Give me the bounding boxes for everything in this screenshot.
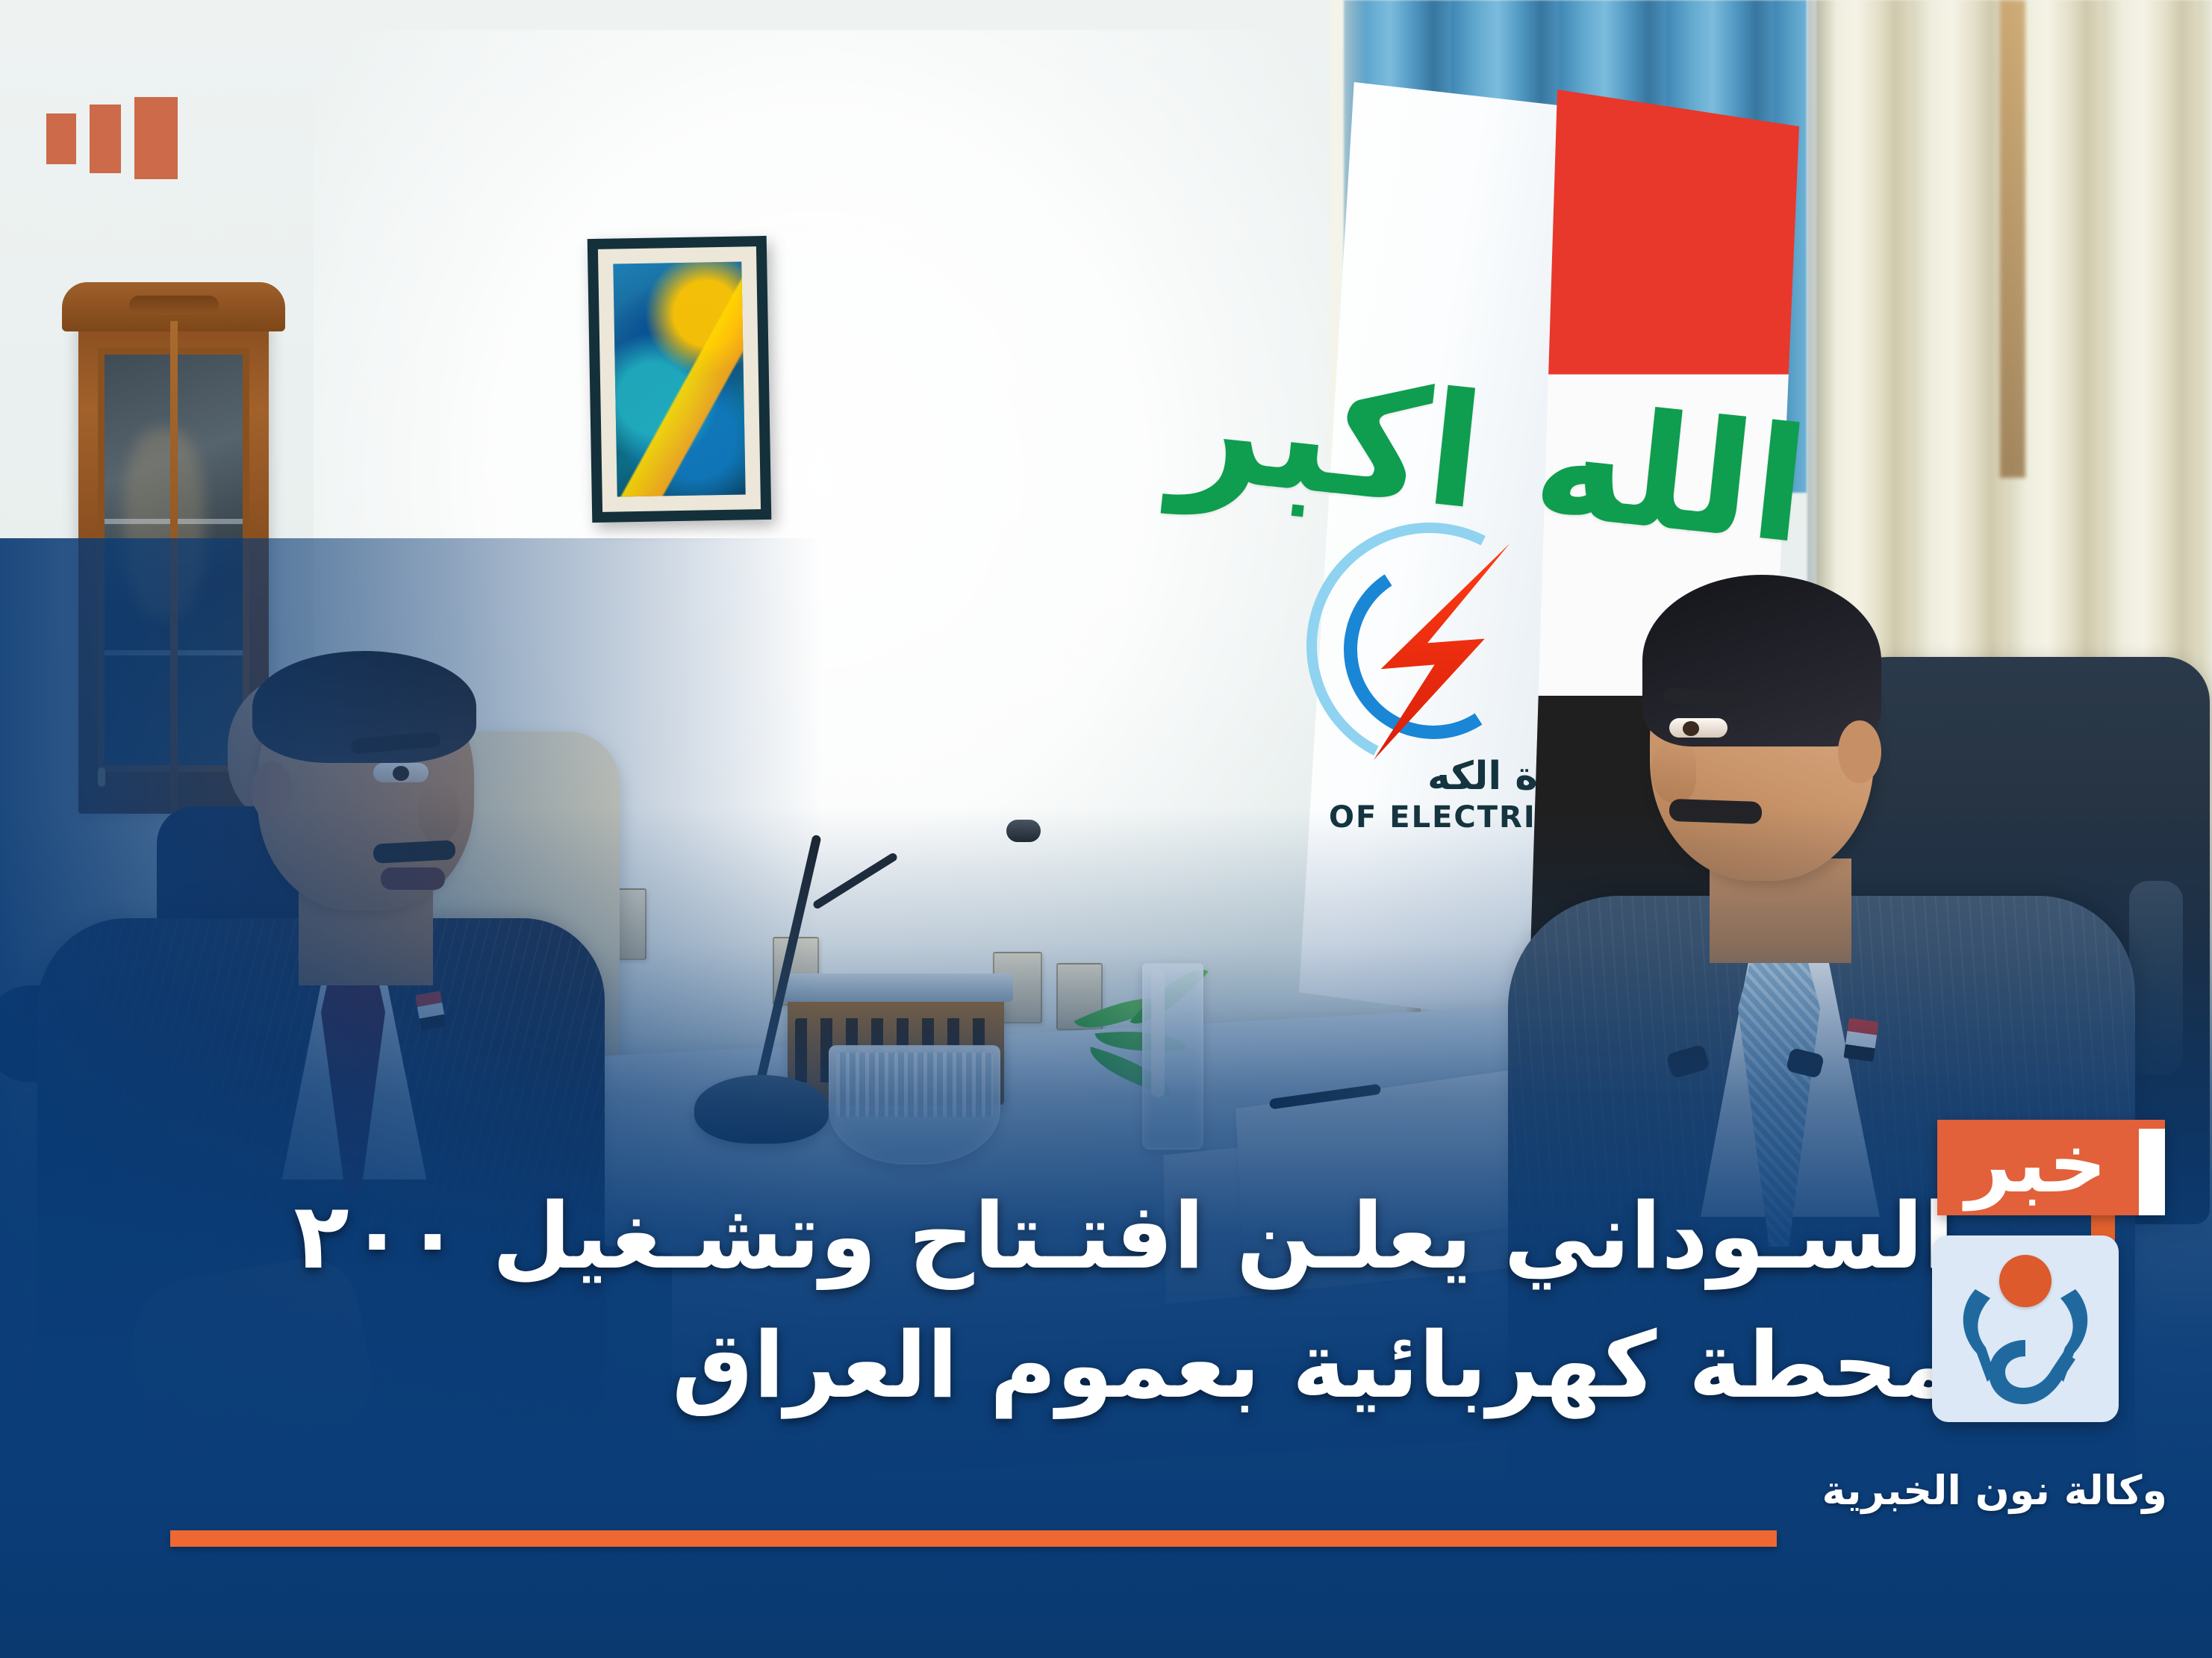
news-badge[interactable]: خبر	[1937, 1120, 2165, 1215]
three-bars-logo	[46, 97, 178, 179]
news-badge-end-cap	[2139, 1129, 2165, 1215]
framed-abstract-painting	[588, 236, 772, 523]
agency-logo[interactable]	[1932, 1235, 2119, 1422]
iraq-flag-takbir: الله اكبر	[1554, 390, 1813, 560]
minister-nose	[418, 784, 460, 844]
curtain-gap	[2000, 0, 2025, 478]
minister-ear	[251, 761, 293, 820]
logo-bar-medium	[90, 105, 121, 173]
logo-bar-short	[46, 113, 76, 164]
trinket-lid	[779, 973, 1013, 1002]
cabinet-knob	[98, 767, 105, 787]
prime-minister-moustache	[1669, 799, 1763, 824]
prime-minister-eye	[1669, 718, 1727, 738]
iraq-flag-lapel-pin	[1843, 1017, 1878, 1062]
prime-minister-nose	[1651, 739, 1696, 803]
headline: السـوداني يعلـن افتـتاح وتشـغيل ٢٠٠ محطة…	[90, 1172, 1954, 1430]
water-glass	[1142, 963, 1203, 1150]
logo-bar-tall	[134, 97, 178, 179]
headline-line-2: محطة كهربائية بعموم العراق	[90, 1301, 1954, 1430]
headline-line-1: السـوداني يعلـن افتـتاح وتشـغيل ٢٠٠	[90, 1172, 1954, 1301]
crystal-bowl	[829, 1045, 1000, 1165]
minister-eye	[373, 763, 429, 782]
painting-canvas	[613, 262, 745, 497]
headline-underline	[170, 1530, 1777, 1547]
microphone-base	[694, 1075, 829, 1144]
noon-letter-icon	[1932, 1235, 2119, 1422]
microphone-head	[1006, 820, 1041, 842]
agency-name: وكالة نون الخبرية	[1884, 1467, 2167, 1514]
cabinet-mullion	[170, 321, 178, 814]
prime-minister-ear	[1838, 720, 1881, 783]
news-card: وزارة الكه OF ELECTRIC الله اكبر	[0, 0, 2212, 1658]
minister-mouth	[381, 867, 445, 890]
news-badge-label: خبر	[1966, 1124, 2107, 1205]
